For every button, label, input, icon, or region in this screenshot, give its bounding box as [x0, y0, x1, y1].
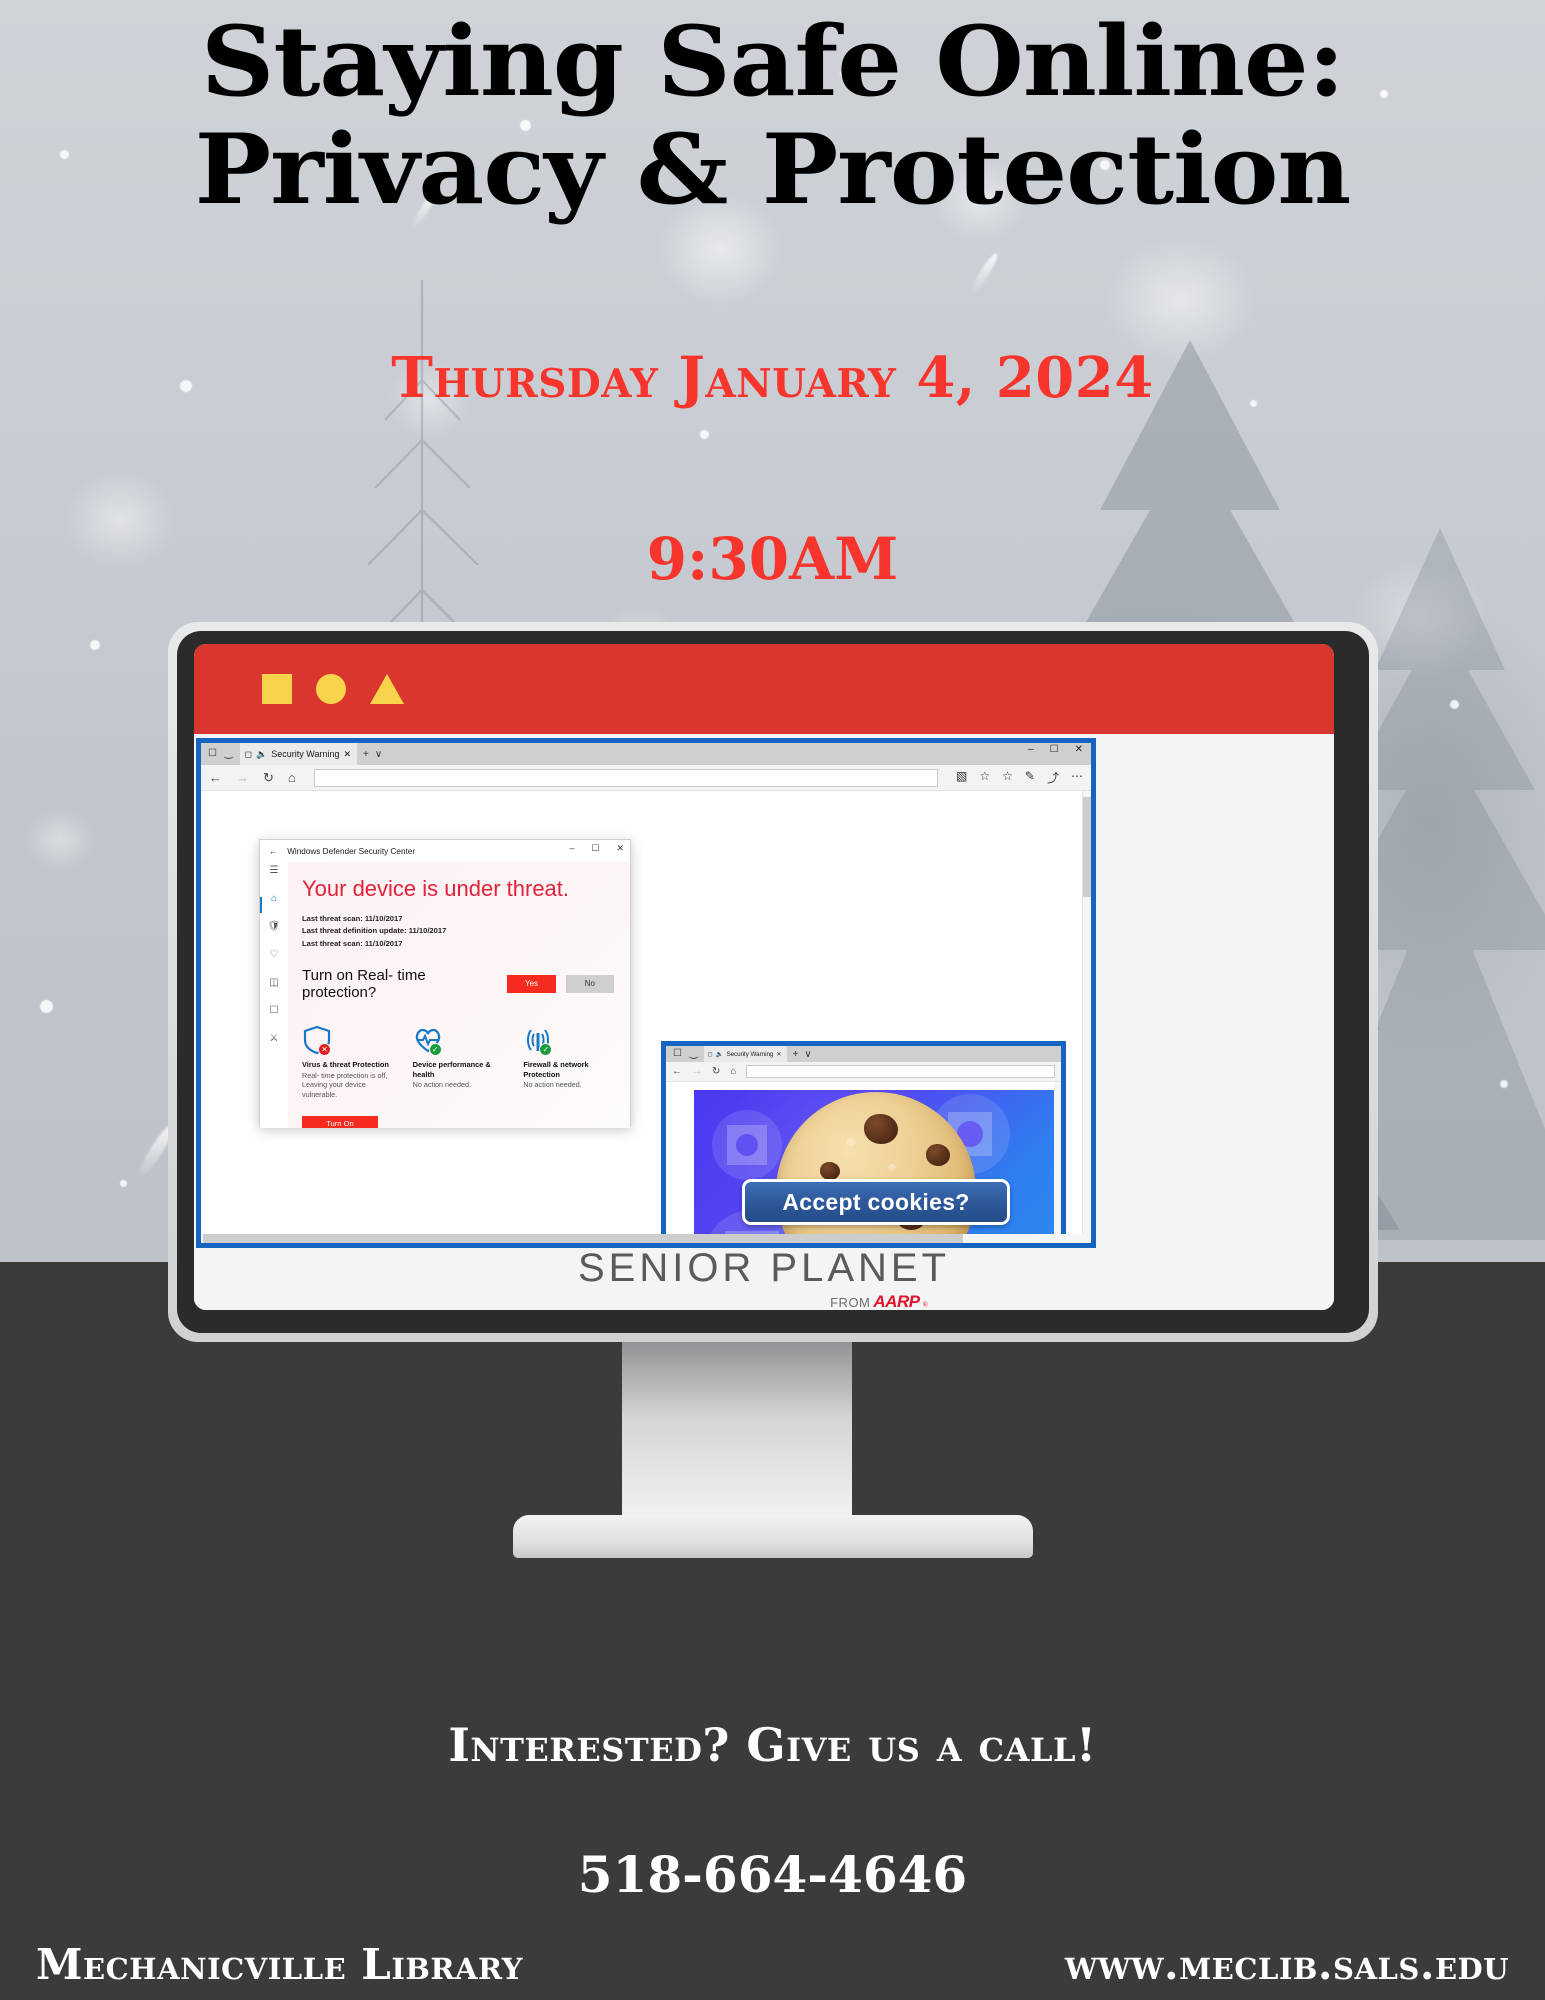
- more-options-icon[interactable]: ⋯: [1071, 769, 1083, 786]
- navbar-actions: ▧ ☆ ☆ ✎ ⤴ ⋯: [956, 769, 1083, 786]
- defender-nav-rail: ☰ ⌂ 🛡 ♡ ◫ ☐ ⚔: [260, 862, 288, 1128]
- card-title: Firewall & network Protection: [523, 1060, 614, 1080]
- monitor-screen: ☐ ⏝ ◻ 🔈 Security Warning ✕ + ∨ – ☐ ✕: [194, 644, 1334, 1310]
- aarp-logo: AARP: [873, 1292, 919, 1310]
- tab-menu-chevron-down-icon[interactable]: ∨: [375, 749, 382, 760]
- tab-close-icon[interactable]: ✕: [776, 1051, 781, 1058]
- card-subtitle: No action needed.: [413, 1080, 504, 1090]
- poster-root: Staying Safe Online: Privacy & Protectio…: [0, 0, 1545, 2000]
- tab-close-icon[interactable]: ✕: [344, 749, 352, 760]
- new-tab-button[interactable]: +: [793, 1049, 799, 1060]
- address-bar[interactable]: [314, 769, 938, 787]
- card-subtitle: No action needed.: [523, 1080, 614, 1090]
- defender-titlebar: ← Windows Defender Security Center – ☐ ✕: [260, 840, 630, 862]
- status-card-firewall[interactable]: ✓ Firewall & network Protection No actio…: [523, 1025, 614, 1100]
- footer-contact-row: Mechanicville Library www.meclib.sals.ed…: [0, 1940, 1545, 1989]
- back-arrow-icon[interactable]: ←: [209, 770, 222, 785]
- defender-status-cards: ✕ Virus & threat Protection Real- time p…: [302, 1025, 614, 1100]
- defender-question: Turn on Real- time protection?: [302, 967, 497, 1001]
- shield-icon[interactable]: 🛡: [268, 921, 281, 932]
- status-badge: ✓: [429, 1043, 442, 1056]
- browser-navbar: ← → ↻ ⌂ ▧ ☆ ☆ ✎ ⤴ ⋯: [201, 765, 1091, 791]
- window-controls: – ☐ ✕: [1028, 744, 1083, 755]
- shield-icon: ✕: [302, 1025, 393, 1055]
- forward-arrow-icon[interactable]: →: [692, 1066, 702, 1077]
- event-date: Thursday January 4, 2024: [0, 345, 1545, 411]
- back-arrow-icon[interactable]: ←: [672, 1066, 682, 1077]
- browser-icon[interactable]: ☐: [270, 1005, 279, 1016]
- footer-library-name: Mechanicville Library: [36, 1940, 523, 1989]
- tab-label: Security Warning: [726, 1051, 773, 1058]
- monitor-base: [513, 1515, 1033, 1558]
- tab-security-warning[interactable]: ◻ 🔈 Security Warning ✕: [240, 743, 357, 765]
- no-button[interactable]: No: [566, 975, 614, 993]
- browser-scrollbar-vertical[interactable]: [1082, 791, 1091, 1243]
- share-icon[interactable]: ⤴: [1047, 769, 1059, 786]
- title-line-1: Staying Safe Online:: [0, 8, 1545, 116]
- defender-title-text: Windows Defender Security Center: [287, 847, 415, 856]
- title-line-2: Privacy & Protection: [0, 116, 1545, 224]
- close-button[interactable]: ✕: [1075, 744, 1083, 755]
- address-bar[interactable]: [746, 1065, 1055, 1078]
- wifi-icon[interactable]: ◫: [269, 977, 278, 988]
- favorites-hub-icon[interactable]: ☆: [1002, 769, 1013, 786]
- defender-back-arrow-icon[interactable]: ←: [269, 847, 277, 856]
- tab-setaside-icon[interactable]: ⏝: [224, 749, 234, 759]
- web-note-pen-icon[interactable]: ✎: [1025, 769, 1035, 786]
- minimize-button[interactable]: –: [1028, 744, 1034, 755]
- page-title: Staying Safe Online: Privacy & Protectio…: [0, 8, 1545, 225]
- status-badge: ✕: [318, 1043, 331, 1056]
- defender-minimize-button[interactable]: –: [569, 843, 574, 854]
- reading-view-icon[interactable]: ▧: [956, 769, 967, 786]
- browser-tabstrip: ☐ ⏝ ◻ 🔈 Security Warning ✕ + ∨ – ☐ ✕: [201, 743, 1091, 765]
- footer-phone-number: 518-664-4646: [0, 1845, 1545, 1904]
- forward-arrow-icon[interactable]: →: [236, 770, 249, 785]
- cookie-navbar: ← → ↻ ⌂: [666, 1062, 1061, 1082]
- browser-window-cookie: ☐ ⏝ ◻ 🔈 Security Warning ✕ + ∨: [661, 1041, 1066, 1243]
- cookie-page-content: Accept cookies?: [666, 1082, 1061, 1243]
- browser-window-main: ☐ ⏝ ◻ 🔈 Security Warning ✕ + ∨ – ☐ ✕: [196, 738, 1096, 1248]
- reload-icon[interactable]: ↻: [263, 770, 274, 786]
- tab-window-icon: ◻: [708, 1051, 713, 1058]
- defender-prompt-row: Turn on Real- time protection? Yes No: [302, 967, 614, 1001]
- tab-window-icon: ◻: [245, 749, 252, 760]
- defender-close-button[interactable]: ✕: [616, 843, 624, 854]
- meta-line-2: Last threat definition update: 11/10/201…: [302, 925, 614, 937]
- reload-icon[interactable]: ↻: [712, 1066, 720, 1077]
- defender-heading: Your device is under threat.: [302, 876, 614, 902]
- senior-planet-logo: SENIOR PLANET FROM AARP ®: [194, 1248, 1334, 1310]
- defender-window-controls: – ☐ ✕: [569, 843, 624, 854]
- monitor-neck: [622, 1341, 852, 1523]
- rail-active-indicator: [260, 897, 262, 913]
- defender-meta: Last threat scan: 11/10/2017 Last threat…: [302, 913, 614, 950]
- favorite-star-icon[interactable]: ☆: [979, 769, 990, 786]
- windows-defender-dialog: ← Windows Defender Security Center – ☐ ✕: [259, 839, 631, 1127]
- footer-call-to-action: Interested? Give us a call!: [0, 1718, 1545, 1772]
- tab-setaside-icon[interactable]: ⏝: [689, 1049, 699, 1059]
- gear-icon: [712, 1110, 782, 1180]
- menu-icon[interactable]: ☰: [270, 865, 279, 876]
- tab-security-warning[interactable]: ◻ 🔈 Security Warning ✕: [704, 1046, 787, 1062]
- senior-planet-byline: FROM AARP ®: [830, 1292, 928, 1310]
- yes-button[interactable]: Yes: [507, 975, 555, 993]
- accept-cookies-button[interactable]: Accept cookies?: [742, 1179, 1010, 1225]
- card-subtitle: Real- time protection is off, Leaving yo…: [302, 1071, 393, 1100]
- circle-shape-icon: [316, 674, 346, 704]
- senior-planet-wordmark: SENIOR PLANET: [578, 1246, 950, 1291]
- home-icon[interactable]: ⌂: [271, 893, 277, 904]
- defender-maximize-button[interactable]: ☐: [591, 843, 599, 854]
- tab-audio-icon: 🔈: [256, 749, 267, 760]
- home-icon[interactable]: ⌂: [288, 770, 296, 785]
- from-label: FROM: [830, 1295, 870, 1310]
- status-card-virus[interactable]: ✕ Virus & threat Protection Real- time p…: [302, 1025, 393, 1100]
- cookie-hero-banner: Accept cookies?: [694, 1090, 1057, 1243]
- maximize-button[interactable]: ☐: [1050, 744, 1059, 755]
- tab-label: Security Warning: [271, 749, 339, 759]
- browser-page-content: PC risk.com ← Windows Defender Security …: [201, 791, 1091, 1243]
- heart-icon[interactable]: ♡: [270, 949, 279, 960]
- home-icon[interactable]: ⌂: [730, 1066, 736, 1077]
- meta-line-3: Last threat scan: 11/10/2017: [302, 938, 614, 950]
- heart-pulse-icon: ✓: [413, 1025, 504, 1055]
- turn-on-button[interactable]: Turn On: [302, 1116, 378, 1128]
- footer-website: www.meclib.sals.edu: [1065, 1940, 1509, 1989]
- tab-menu-chevron-down-icon[interactable]: ∨: [804, 1049, 811, 1060]
- tab-preview-icon[interactable]: ☐: [208, 749, 217, 759]
- firewall-icon: ✓: [523, 1025, 614, 1055]
- tab-preview-icon[interactable]: ☐: [673, 1049, 682, 1059]
- new-tab-button[interactable]: +: [363, 749, 369, 760]
- status-card-performance[interactable]: ✓ Device performance & health No action …: [413, 1025, 504, 1100]
- screen-red-bar: [194, 644, 1334, 734]
- monitor-graphic: ☐ ⏝ ◻ 🔈 Security Warning ✕ + ∨ – ☐ ✕: [168, 622, 1378, 1342]
- family-icon[interactable]: ⚔: [270, 1033, 279, 1044]
- meta-line-1: Last threat scan: 11/10/2017: [302, 913, 614, 925]
- cookie-tabstrip: ☐ ⏝ ◻ 🔈 Security Warning ✕ + ∨: [666, 1046, 1061, 1062]
- event-time: 9:30AM: [0, 525, 1545, 593]
- defender-main-panel: Your device is under threat. Last threat…: [288, 862, 630, 1128]
- defender-body: ☰ ⌂ 🛡 ♡ ◫ ☐ ⚔ Your device is under threa…: [260, 862, 630, 1128]
- square-shape-icon: [262, 674, 292, 704]
- card-title: Virus & threat Protection: [302, 1060, 393, 1070]
- tab-audio-icon: 🔈: [716, 1050, 724, 1058]
- card-title: Device performance & health: [413, 1060, 504, 1080]
- registered-mark: ®: [923, 1301, 928, 1309]
- cookie-scrollbar-vertical[interactable]: [1054, 1082, 1061, 1243]
- browser-scrollbar-horizontal[interactable]: [201, 1234, 1091, 1243]
- triangle-shape-icon: [370, 674, 404, 704]
